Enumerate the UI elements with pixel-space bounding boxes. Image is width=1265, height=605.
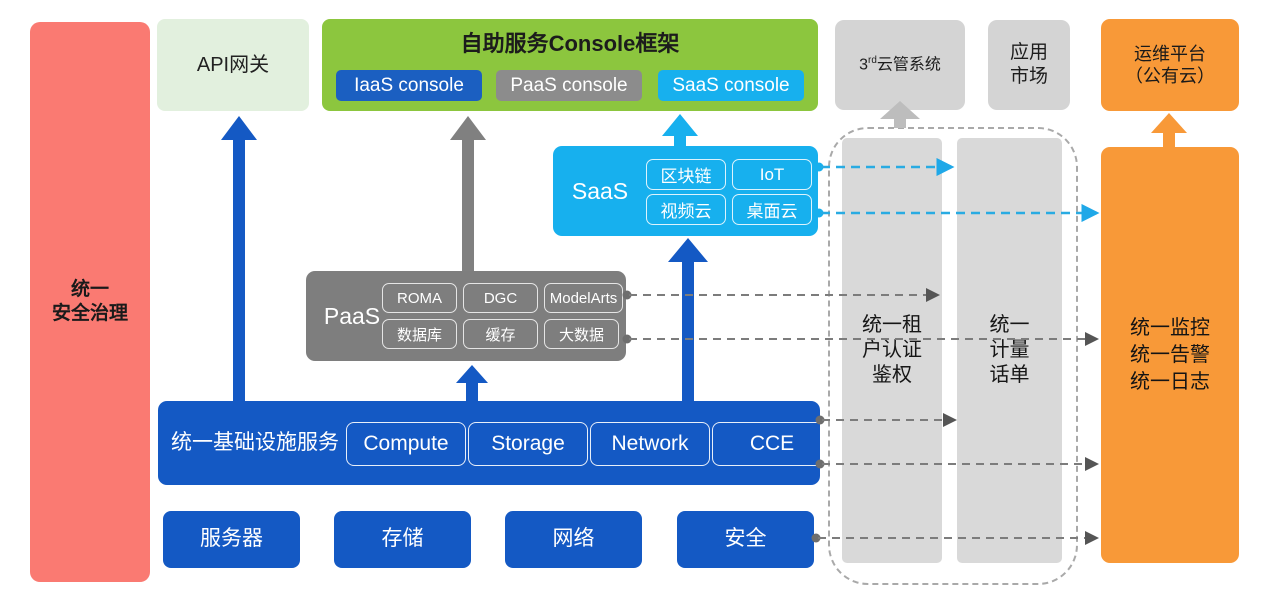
arrow-saas-to-console — [662, 114, 698, 146]
unified-monitoring-column: 统一监控 统一告警 统一日志 — [1101, 147, 1239, 563]
metering-label-line1: 统一 — [990, 313, 1030, 338]
unified-tenant-auth-column: 统一租 户认证 鉴权 — [842, 138, 942, 563]
unified-metering-column: 统一 计量 话单 — [957, 138, 1062, 563]
third-party-prefix: 3 — [859, 56, 868, 73]
paas-item-database-label: 数据库 — [397, 324, 442, 345]
infra-item-compute[interactable]: Compute — [346, 422, 466, 466]
unified-security-governance-block: 统一 安全治理 — [30, 22, 150, 582]
console-frame-title-row: 自助服务Console框架 — [322, 27, 818, 61]
infra-label: 统一基础设施服务 — [171, 430, 339, 456]
ops-platform-line1: 运维平台 — [1134, 43, 1206, 66]
saas-item-blockchain[interactable]: 区块链 — [646, 159, 726, 190]
saas-console-label: SaaS console — [672, 75, 789, 97]
paas-item-roma[interactable]: ROMA — [382, 283, 457, 313]
api-gateway-block: API网关 — [157, 19, 309, 111]
infra-item-network-label: Network — [611, 432, 688, 456]
saas-label: SaaS — [572, 177, 628, 206]
infra-item-storage[interactable]: Storage — [468, 422, 588, 466]
saas-item-iot-label: IoT — [760, 165, 785, 185]
arrow-paas-to-console — [450, 116, 486, 271]
hardware-item-network[interactable]: 网络 — [505, 511, 642, 568]
saas-label-wrap: SaaS — [561, 174, 639, 208]
third-party-cloud-management-label: 3rd云管系统 — [859, 55, 941, 75]
arrow-infra-to-api-gateway — [221, 116, 257, 401]
infra-item-network[interactable]: Network — [590, 422, 710, 466]
ops-monitor-line1: 统一监控 — [1130, 315, 1210, 342]
app-market-label-line1: 应用 — [1010, 41, 1048, 65]
hardware-item-storage-label: 存储 — [382, 526, 424, 552]
paas-block: PaaS ROMA DGC ModelArts 数据库 缓存 大数据 — [306, 271, 626, 361]
paas-label: PaaS — [324, 302, 380, 331]
console-frame-title: 自助服务Console框架 — [461, 30, 680, 58]
hardware-item-storage[interactable]: 存储 — [334, 511, 471, 568]
paas-console-label: PaaS console — [510, 75, 627, 97]
ops-monitor-line2: 统一告警 — [1130, 342, 1210, 369]
paas-item-cache[interactable]: 缓存 — [463, 319, 538, 349]
ops-platform-block: 运维平台 （公有云） — [1101, 19, 1239, 111]
auth-label-line1: 统一租 — [862, 313, 922, 338]
arrow-infra-to-saas — [668, 238, 708, 401]
hardware-item-security[interactable]: 安全 — [677, 511, 814, 568]
metering-label-line3: 话单 — [990, 363, 1030, 388]
arrow-to-ops-platform — [1151, 113, 1187, 147]
saas-item-video-cloud[interactable]: 视频云 — [646, 194, 726, 225]
paas-item-database[interactable]: 数据库 — [382, 319, 457, 349]
api-gateway-label: API网关 — [197, 53, 269, 78]
paas-item-roma-label: ROMA — [397, 290, 442, 307]
ops-platform-line2: （公有云） — [1125, 65, 1215, 88]
third-party-suffix: 云管系统 — [877, 56, 941, 73]
saas-block: SaaS 区块链 IoT 视频云 桌面云 — [553, 146, 818, 236]
auth-label-line3: 鉴权 — [872, 363, 912, 388]
metering-label-line2: 计量 — [990, 338, 1030, 363]
paas-label-wrap: PaaS — [314, 299, 390, 333]
architecture-diagram: 统一 安全治理 API网关 自助服务Console框架 IaaS console… — [0, 0, 1265, 605]
hardware-item-server-label: 服务器 — [200, 526, 263, 552]
infra-item-cce[interactable]: CCE — [712, 422, 832, 466]
paas-item-dgc[interactable]: DGC — [463, 283, 538, 313]
paas-item-cache-label: 缓存 — [485, 324, 515, 345]
arrow-infra-to-paas — [456, 365, 488, 401]
third-party-superscript: rd — [868, 55, 877, 66]
hardware-item-server[interactable]: 服务器 — [163, 511, 300, 568]
hardware-item-security-label: 安全 — [725, 526, 767, 552]
saas-item-iot[interactable]: IoT — [732, 159, 812, 190]
paas-item-bigdata-label: 大数据 — [559, 324, 604, 345]
paas-item-bigdata[interactable]: 大数据 — [544, 319, 619, 349]
paas-item-modelarts[interactable]: ModelArts — [544, 283, 623, 313]
hardware-item-network-label: 网络 — [553, 526, 595, 552]
iaas-console-chip[interactable]: IaaS console — [336, 70, 482, 101]
security-label-line1: 统一 — [71, 278, 109, 302]
security-label-line2: 安全治理 — [52, 302, 128, 326]
auth-label-line2: 户认证 — [862, 338, 922, 363]
app-market-label-line2: 市场 — [1010, 65, 1048, 89]
saas-item-desktop-cloud-label: 桌面云 — [747, 197, 798, 222]
saas-item-blockchain-label: 区块链 — [661, 162, 712, 187]
saas-item-video-cloud-label: 视频云 — [661, 197, 712, 222]
app-market-block: 应用 市场 — [988, 20, 1070, 110]
self-service-console-frame: 自助服务Console框架 IaaS console PaaS console … — [322, 19, 818, 111]
ops-monitor-line3: 统一日志 — [1130, 369, 1210, 396]
infra-label-wrap: 统一基础设施服务 — [170, 426, 340, 460]
infra-item-compute-label: Compute — [363, 432, 448, 456]
infra-item-cce-label: CCE — [750, 432, 794, 456]
saas-console-chip[interactable]: SaaS console — [658, 70, 804, 101]
infra-item-storage-label: Storage — [491, 432, 565, 456]
saas-item-desktop-cloud[interactable]: 桌面云 — [732, 194, 812, 225]
unified-infrastructure-bar: 统一基础设施服务 Compute Storage Network CCE — [158, 401, 820, 485]
paas-console-chip[interactable]: PaaS console — [496, 70, 642, 101]
iaas-console-label: IaaS console — [354, 75, 464, 97]
paas-item-modelarts-label: ModelArts — [550, 290, 618, 307]
third-party-cloud-management-block: 3rd云管系统 — [835, 20, 965, 110]
paas-item-dgc-label: DGC — [484, 290, 517, 307]
